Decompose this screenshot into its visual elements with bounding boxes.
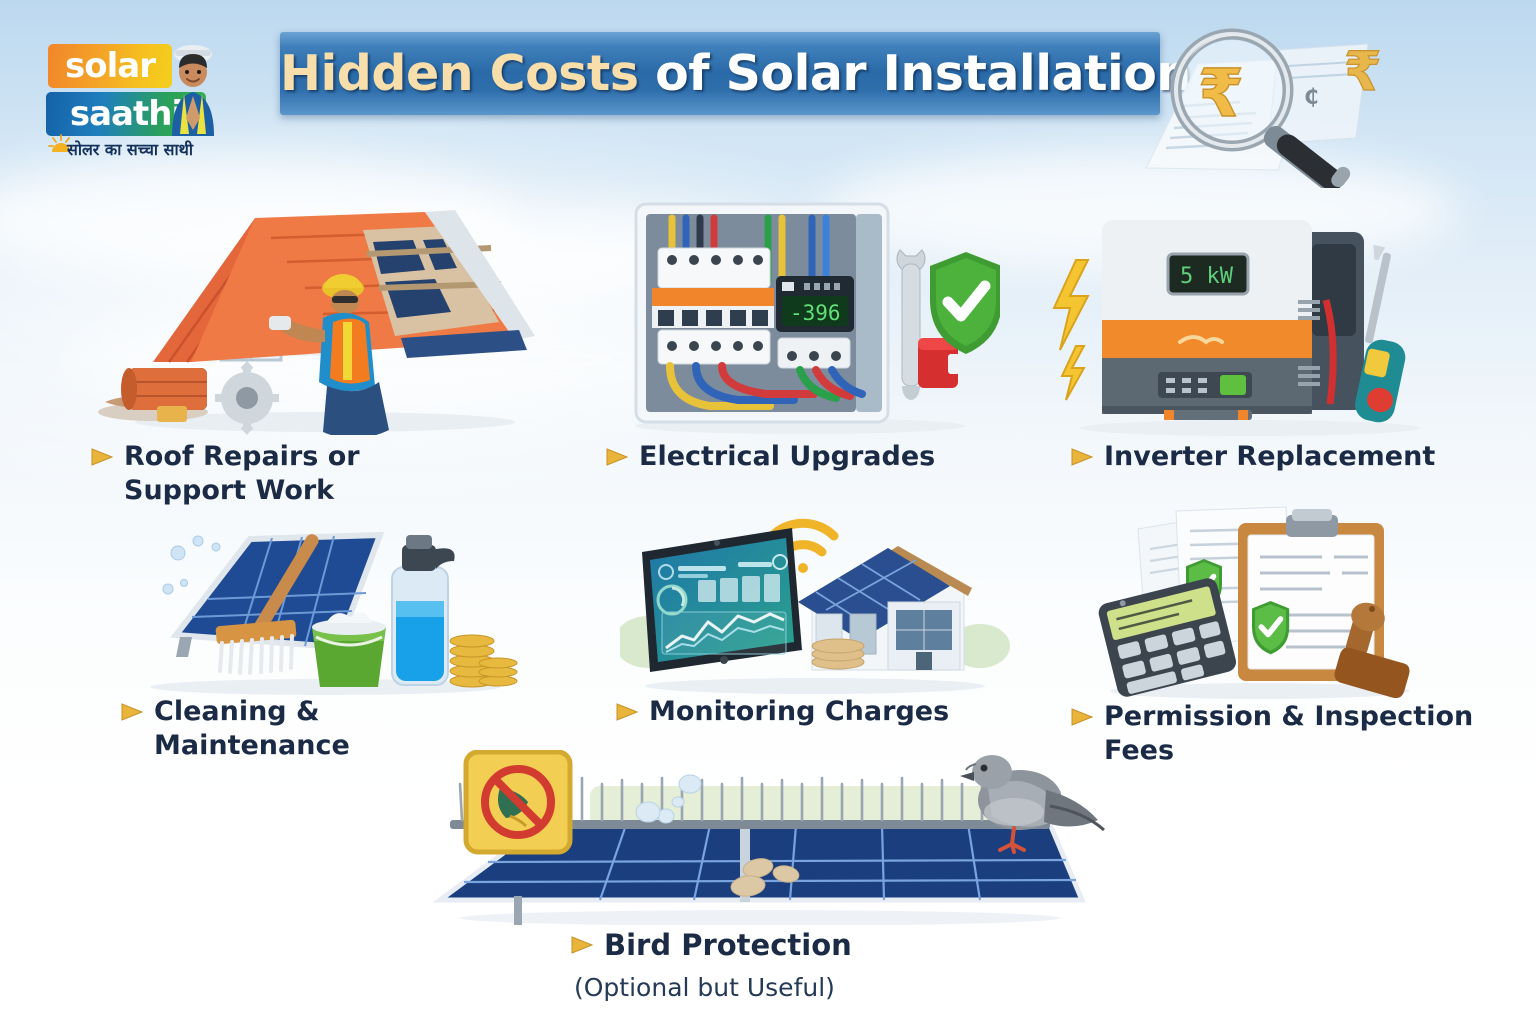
header: solar saathi सोलर का सच्चा साथी [0, 0, 1536, 185]
monitoring-tablet-illustration [620, 510, 1010, 695]
item-card-monitoring-charges[interactable]: Monitoring Charges [620, 510, 1010, 735]
item-card-cleaning-maintenance[interactable]: Cleaning & Maintenance [130, 505, 520, 735]
item-card-inverter-replacement[interactable]: 5 kW [1040, 190, 1440, 440]
electrical-panel-illustration: -396 [600, 190, 1000, 435]
brand-logo[interactable]: solar saathi सोलर का सच्चा साथी [36, 38, 216, 166]
item-card-electrical-upgrades[interactable]: -396 [600, 190, 1000, 440]
item-label-text: Electrical Upgrades [639, 440, 935, 474]
item-label-monitoring-charges: Monitoring Charges [615, 695, 949, 729]
item-label-permission-inspection: Permission & Inspection Fees [1070, 700, 1490, 768]
bullet-arrow-icon [570, 935, 594, 955]
inverter-illustration: 5 kW [1040, 204, 1440, 436]
item-card-roof-repairs[interactable]: Roof Repairs or Support Work [95, 190, 535, 440]
bullet-arrow-icon [615, 702, 639, 722]
bullet-arrow-icon [90, 447, 114, 467]
item-card-permission-inspection[interactable]: Permission & Inspection Fees [1090, 505, 1490, 735]
logo-tagline: सोलर का सच्चा साथी [42, 138, 218, 160]
bullet-arrow-icon [1070, 447, 1094, 467]
item-label-text: Permission & Inspection Fees [1104, 700, 1490, 768]
meter-display-value: -396 [790, 301, 841, 325]
title-banner: Hidden Costs of Solar Installation [280, 32, 1160, 115]
item-label-text: Inverter Replacement [1104, 440, 1435, 474]
page-title-highlight: Hidden Costs [280, 45, 655, 102]
worker-namaste-icon [162, 38, 224, 138]
roof-worker-illustration [95, 190, 535, 435]
item-label-bird-protection: Bird Protection (Optional but Useful) [570, 928, 852, 1004]
item-label-text: Roof Repairs or Support Work [124, 440, 360, 508]
page-title-rest: of Solar Installation [655, 45, 1191, 102]
bullet-arrow-icon [120, 702, 144, 722]
svg-text:₹: ₹ [1198, 55, 1244, 132]
cleaning-tools-illustration [130, 505, 520, 695]
bird-spikes-illustration [410, 750, 1110, 925]
item-sublabel-text: (Optional but Useful) [574, 972, 835, 1004]
item-label-roof-repairs: Roof Repairs or Support Work [90, 440, 520, 508]
lightning-bolt-icon [1054, 260, 1088, 400]
page-title: Hidden Costs of Solar Installation [280, 32, 1160, 115]
logo-solar-text: solar [48, 44, 172, 88]
item-label-text: Bird Protection [604, 928, 852, 962]
item-label-text: Monitoring Charges [649, 695, 949, 729]
bullet-arrow-icon [1070, 707, 1094, 727]
item-label-inverter-replacement: Inverter Replacement [1070, 440, 1435, 474]
item-label-electrical-upgrades: Electrical Upgrades [605, 440, 935, 474]
svg-text:₹: ₹ [1344, 40, 1382, 103]
documents-clipboard-illustration [1090, 505, 1430, 700]
svg-text:₵: ₵ [1304, 85, 1319, 109]
inverter-display-value: 5 kW [1180, 264, 1234, 289]
item-card-bird-protection[interactable]: Bird Protection (Optional but Useful) [410, 750, 1110, 1010]
logo-word-solar: solar [48, 44, 172, 88]
bullet-arrow-icon [605, 447, 629, 467]
magnifier-rupee-icon: ₹ ₵ ₹ [1128, 18, 1398, 188]
